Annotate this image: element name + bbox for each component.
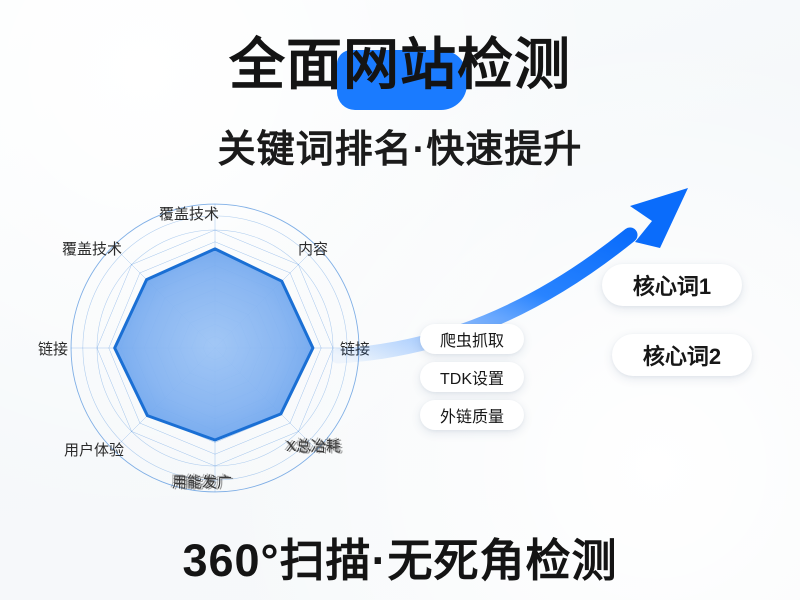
radar-label-right: 链接 [340,338,370,359]
growth-arrow-head [630,188,688,248]
radar-label-lower-left: 用户体验 [64,439,124,460]
pill-keyword-2[interactable]: 核心词2 [612,334,752,376]
poster-canvas: 全面网站检测 关键词排名·快速提升 覆盖技术 内容 链接 X总冶耗 用能发广 用… [0,0,800,600]
pill-crawl-label: 爬虫抓取 [440,327,504,351]
pill-keyword-1-label: 核心词1 [633,269,711,301]
page-footer-slogan: 360°扫描·无死角检测 [0,524,800,589]
pill-tdk-label: TDK设置 [440,365,504,389]
page-title-part-2: 检测 [457,34,571,96]
pill-outlink-label: 外链质量 [440,403,504,427]
radar-label-bottom: 用能发广 [172,471,232,492]
radar-label-left: 链接 [38,338,68,359]
page-title-highlight: 网站 [343,34,457,96]
page-title-part-1: 全面 [229,34,343,96]
pill-crawl[interactable]: 爬虫抓取 [420,324,524,354]
radar-label-upper-left: 覆盖技术 [62,238,122,259]
pill-tdk[interactable]: TDK设置 [420,362,524,392]
pill-outlink[interactable]: 外链质量 [420,400,524,430]
radar-chart: 覆盖技术 内容 链接 X总冶耗 用能发广 用户体验 链接 覆盖技术 [20,190,410,510]
pill-keyword-2-label: 核心词2 [643,339,721,371]
page-title: 全面网站检测 [0,34,800,96]
radar-label-upper-right: 内容 [298,238,328,259]
radar-label-top: 覆盖技术 [159,203,219,224]
page-subtitle: 关键词排名·快速提升 [0,118,800,173]
pill-keyword-1[interactable]: 核心词1 [602,264,742,306]
radar-label-lower-right: X总冶耗 [286,435,341,456]
